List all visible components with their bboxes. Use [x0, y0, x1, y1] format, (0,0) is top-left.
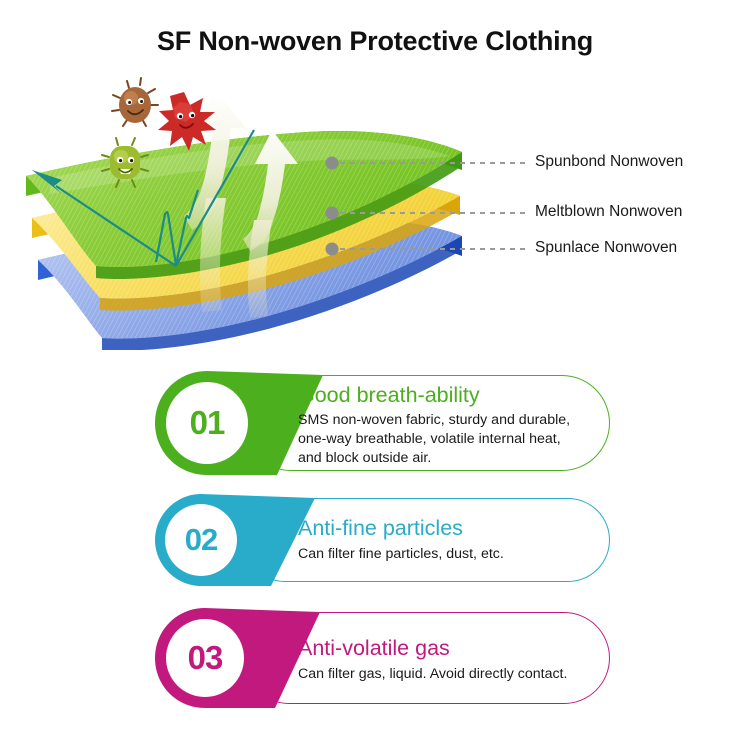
card-heading-02: Anti-fine particles — [298, 516, 584, 541]
leader-dot-spunlace — [326, 243, 339, 256]
leader-dot-meltblown — [326, 207, 339, 220]
layer-label-meltblown: Meltblown Nonwoven — [535, 203, 682, 221]
layer-label-spunlace: Spunlace Nonwoven — [535, 239, 677, 257]
card-heading-03: Anti-volatile gas — [298, 636, 584, 661]
feature-card-01[interactable]: 01 Good breath-ability SMS non-woven fab… — [155, 371, 610, 475]
leader-dot-spunbond — [326, 157, 339, 170]
card-number-01: 01 — [155, 371, 259, 475]
card-body-01: SMS non-woven fabric, sturdy and durable… — [298, 411, 584, 467]
card-body-03: Can filter gas, liquid. Avoid directly c… — [298, 665, 584, 684]
card-text: Anti-volatile gas Can filter gas, liquid… — [298, 608, 584, 710]
layer-label-spunbond: Spunbond Nonwoven — [535, 153, 683, 171]
card-number-03: 03 — [155, 608, 255, 708]
feature-card-03[interactable]: 03 Anti-volatile gas Can filter gas, liq… — [155, 608, 610, 708]
brown-bacteria-icon — [112, 78, 158, 126]
card-heading-01: Good breath-ability — [298, 383, 584, 408]
card-number-02: 02 — [155, 494, 247, 586]
card-body-02: Can filter fine particles, dust, etc. — [298, 545, 584, 564]
feature-card-list: 01 Good breath-ability SMS non-woven fab… — [0, 371, 750, 708]
page-title: SF Non-woven Protective Clothing — [0, 26, 750, 57]
card-text: Good breath-ability SMS non-woven fabric… — [298, 371, 584, 477]
feature-card-02[interactable]: 02 Anti-fine particles Can filter fine p… — [155, 494, 610, 586]
card-text: Anti-fine particles Can filter fine part… — [298, 494, 584, 586]
